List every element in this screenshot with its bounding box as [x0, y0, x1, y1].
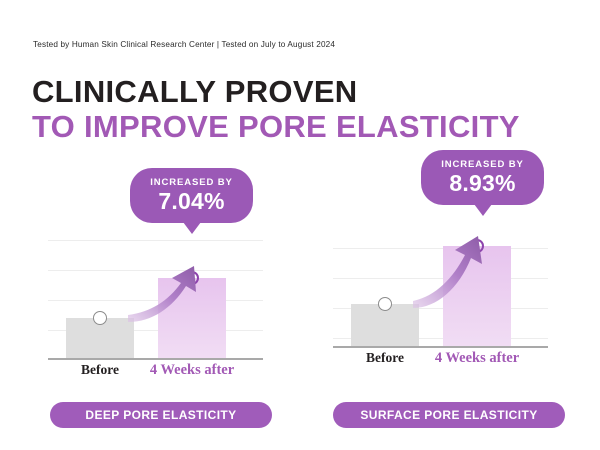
x-label-after: 4 Weeks after — [150, 362, 234, 379]
increase-callout-bubble: INCREASED BY 7.04% — [130, 168, 253, 223]
panel-surface-pore-elasticity: INCREASED BY 8.93% — [305, 150, 570, 440]
category-pill-surface-pore: SURFACE PORE ELASTICITY — [333, 402, 565, 428]
bar-chart-surface-pore — [333, 226, 548, 348]
increase-percent-value: 7.04% — [150, 189, 233, 213]
bar-chart-deep-pore — [48, 238, 263, 360]
increase-callout-bubble: INCREASED BY 8.93% — [421, 150, 544, 205]
chart-baseline-axis — [333, 346, 548, 348]
test-credentials-text: Tested by Human Skin Clinical Research C… — [33, 40, 335, 49]
x-label-before: Before — [366, 350, 404, 366]
bubble-tail-triangle-icon — [474, 204, 492, 216]
bubble-tail-triangle-icon — [183, 222, 201, 234]
headline-line-1: CLINICALLY PROVEN — [32, 76, 572, 107]
increase-percent-value: 8.93% — [441, 171, 524, 195]
callout-bubble-wrapper: INCREASED BY 8.93% — [305, 150, 570, 205]
increased-by-label: INCREASED BY — [441, 159, 524, 170]
chart-baseline-axis — [48, 358, 263, 360]
headline-line-2: TO IMPROVE PORE ELASTICITY — [32, 111, 572, 142]
x-label-after: 4 Weeks after — [435, 350, 519, 367]
category-pill-deep-pore: DEEP PORE ELASTICITY — [50, 402, 272, 428]
growth-arrow-icon — [333, 226, 548, 348]
increased-by-label: INCREASED BY — [150, 177, 233, 188]
callout-bubble-wrapper: INCREASED BY 7.04% — [20, 168, 285, 223]
panel-deep-pore-elasticity: INCREASED BY 7.04% — [20, 150, 285, 440]
growth-arrow-icon — [48, 238, 263, 360]
page-title: CLINICALLY PROVEN TO IMPROVE PORE ELASTI… — [32, 76, 572, 142]
x-label-before: Before — [81, 362, 119, 378]
